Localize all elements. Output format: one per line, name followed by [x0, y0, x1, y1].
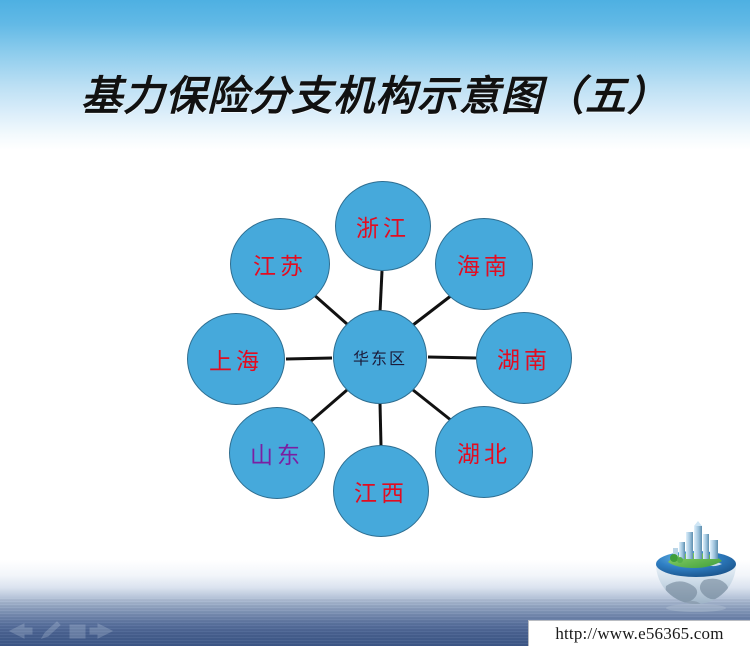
- slide-canvas: 基力保险分支机构示意图（五） 浙江 海南 湖南 湖北: [0, 0, 750, 646]
- edge-hub-hubei: [413, 390, 452, 421]
- edge-hub-jiangxi: [380, 403, 381, 446]
- node-label: 江西: [354, 474, 408, 508]
- org-chart-diagram: 浙江 海南 湖南 湖北 江西 山东 上海 江苏 华东区: [0, 0, 750, 646]
- edge-hub-jiangsu: [313, 294, 347, 324]
- globe-city-skyline: [673, 521, 718, 559]
- node-label: 上海: [209, 342, 263, 376]
- node-shandong[interactable]: 山东: [229, 407, 325, 499]
- node-jiangxi[interactable]: 江西: [333, 445, 429, 537]
- url-bar: http://www.e56365.com: [528, 620, 750, 646]
- edge-hub-shanghai: [286, 358, 332, 359]
- node-jiangsu[interactable]: 江苏: [230, 218, 330, 310]
- node-zhejiang[interactable]: 浙江: [335, 181, 431, 271]
- node-hunan[interactable]: 湖南: [476, 312, 572, 404]
- node-shanghai[interactable]: 上海: [187, 313, 285, 405]
- edge-hub-hainan: [413, 295, 452, 325]
- edge-hub-zhejiang: [380, 271, 382, 312]
- node-label: 湖南: [497, 341, 551, 375]
- node-label: 浙江: [356, 209, 410, 243]
- globe-city-logo: [648, 518, 744, 614]
- node-hub-huadongqu[interactable]: 华东区: [333, 310, 427, 404]
- node-hainan[interactable]: 海南: [435, 218, 533, 310]
- node-label: 湖北: [457, 435, 511, 469]
- globe-tree: [670, 554, 678, 562]
- node-label: 海南: [457, 247, 511, 281]
- node-label: 华东区: [353, 345, 407, 369]
- site-url[interactable]: http://www.e56365.com: [555, 624, 723, 644]
- node-label: 江苏: [253, 247, 307, 281]
- edge-hub-shandong: [310, 390, 347, 422]
- node-hubei[interactable]: 湖北: [435, 406, 533, 498]
- node-label: 山东: [250, 436, 304, 470]
- edge-hub-hunan: [428, 357, 476, 358]
